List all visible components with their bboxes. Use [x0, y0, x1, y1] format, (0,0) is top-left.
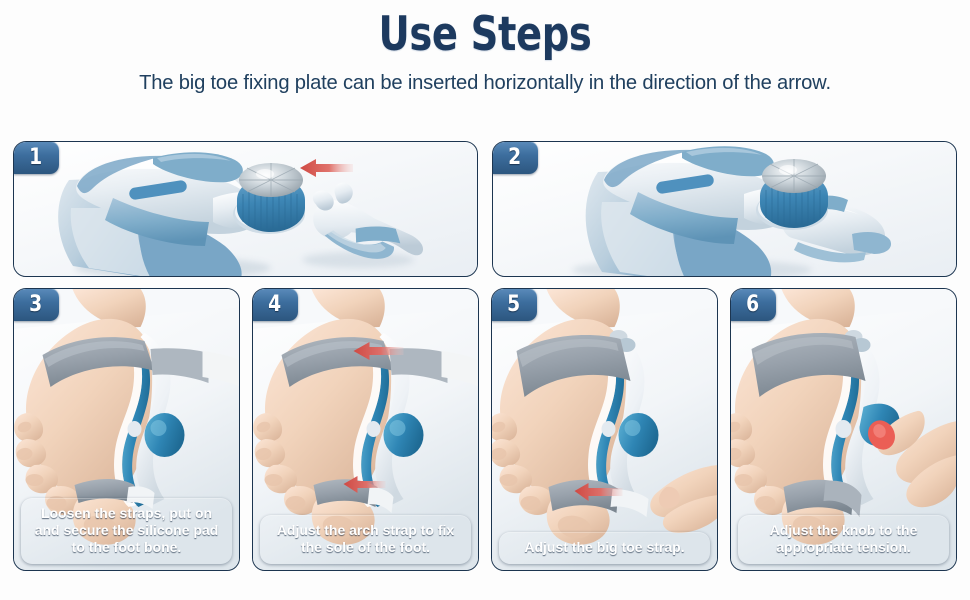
step-number-badge-6: 6	[730, 288, 776, 321]
step-number-badge-5: 5	[491, 288, 537, 321]
step-5-image	[492, 289, 717, 570]
step-2-image	[493, 142, 956, 276]
page-subtitle: The big toe fixing plate can be inserted…	[7, 71, 962, 95]
page-header: Use Steps The big toe fixing plate can b…	[0, 0, 970, 95]
step-panel-1[interactable]: 1	[13, 141, 478, 277]
step-number-badge-2: 2	[492, 141, 538, 174]
steps-row-top: 1	[13, 141, 957, 277]
foot-illustration-5	[492, 289, 717, 570]
step-number-badge-4: 4	[252, 288, 298, 321]
step-number-badge-1: 1	[13, 141, 59, 174]
step-panel-5[interactable]: 5 Adjust the big toe strap.	[491, 288, 718, 571]
step-number-badge-3: 3	[13, 288, 59, 321]
step-panel-3[interactable]: 3 Loosen the straps, put on and secure t…	[13, 288, 240, 571]
step-panel-6[interactable]: 6 Adjust the knob to the appropriate ten…	[730, 288, 957, 571]
step-panel-2[interactable]: 2	[492, 141, 957, 277]
arrow-left-icon	[300, 159, 353, 177]
page-title: Use Steps	[87, 10, 882, 59]
step-caption-5: Adjust the big toe strap.	[499, 532, 710, 564]
brace-illustration-2	[493, 142, 956, 276]
step-caption-3: Loosen the straps, put on and secure the…	[21, 498, 232, 564]
step-panel-4[interactable]: 4 Adjust the arch strap to fix the sole …	[252, 288, 479, 571]
step-1-image	[14, 142, 477, 276]
step-caption-4: Adjust the arch strap to fix the sole of…	[260, 515, 471, 564]
brace-illustration-1	[14, 142, 477, 276]
steps-row-bottom: 3 Loosen the straps, put on and secure t…	[13, 288, 957, 571]
step-caption-6: Adjust the knob to the appropriate tensi…	[738, 515, 949, 564]
